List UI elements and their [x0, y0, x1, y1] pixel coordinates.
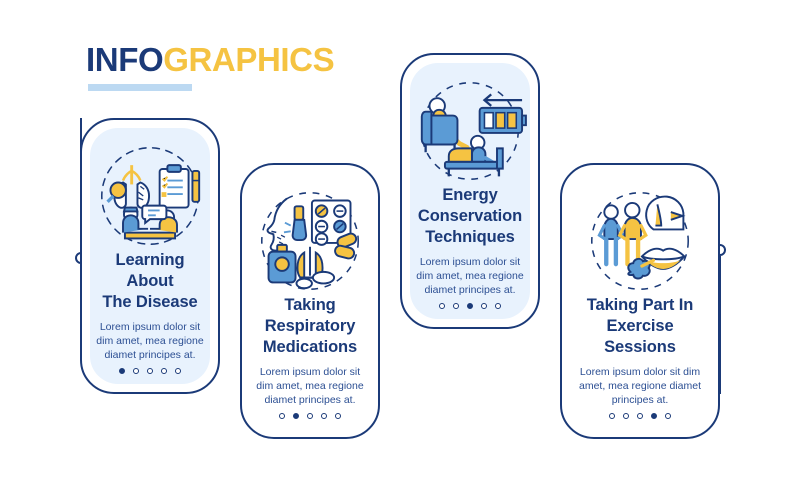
step-card-3-description: Lorem ipsum dolor sit dim amet, mea regi… — [416, 255, 524, 297]
step-card-1-description: Lorem ipsum dolor sit dim amet, mea regi… — [96, 320, 204, 362]
heading-line: Medications — [263, 337, 357, 358]
heading-line: Techniques — [418, 227, 522, 248]
lungs-magnifier-clipboard-consultation-icon — [86, 142, 214, 250]
heading-line: Learning — [102, 250, 197, 271]
step-card-2-dots[interactable] — [279, 413, 341, 419]
dot[interactable] — [467, 303, 473, 309]
dot[interactable] — [147, 368, 153, 374]
heading-line: About — [102, 271, 197, 292]
dot[interactable] — [119, 368, 125, 374]
dot[interactable] — [651, 413, 657, 419]
dot[interactable] — [293, 413, 299, 419]
dot[interactable] — [161, 368, 167, 374]
step-card-3-heading: Energy Conservation Techniques — [418, 185, 522, 248]
step-card-1-heading: Learning About The Disease — [102, 250, 197, 313]
step-card-4[interactable]: Taking Part In Exercise Sessions Lorem i… — [560, 163, 720, 439]
step-card-3-dots[interactable] — [439, 303, 501, 309]
dot[interactable] — [335, 413, 341, 419]
dot[interactable] — [665, 413, 671, 419]
dot[interactable] — [481, 303, 487, 309]
step-card-2-description: Lorem ipsum dolor sit dim amet, mea regi… — [256, 365, 364, 407]
dot[interactable] — [133, 368, 139, 374]
dot[interactable] — [453, 303, 459, 309]
dot[interactable] — [321, 413, 327, 419]
page-title: INFOGRAPHICS — [86, 40, 334, 80]
heading-line: Exercise — [587, 316, 693, 337]
dot[interactable] — [279, 413, 285, 419]
heading-line: Taking Part In — [587, 295, 693, 316]
step-card-4-description: Lorem ipsum dolor sit dim amet, mea regi… — [576, 365, 704, 407]
heading-line: Taking — [263, 295, 357, 316]
heading-line: Energy — [418, 185, 522, 206]
dot[interactable] — [609, 413, 615, 419]
title-part-info: INFO — [86, 41, 163, 78]
step-card-2-heading: Taking Respiratory Medications — [263, 295, 357, 358]
infographic-canvas: INFOGRAPHICS — [0, 0, 800, 500]
step-card-1-dots[interactable] — [119, 368, 181, 374]
step-card-4-dots[interactable] — [609, 413, 671, 419]
heading-line: The Disease — [102, 292, 197, 313]
dot[interactable] — [637, 413, 643, 419]
title-underline-rule — [88, 84, 192, 91]
heading-line: Conservation — [418, 206, 522, 227]
resting-armchair-battery-bed-icon — [406, 77, 534, 185]
inhaler-pills-syrup-lungs-icon — [246, 187, 374, 295]
dot[interactable] — [175, 368, 181, 374]
step-card-3[interactable]: Energy Conservation Techniques Lorem ips… — [400, 53, 540, 329]
heading-line: Respiratory — [263, 316, 357, 337]
step-card-1[interactable]: Learning About The Disease Lorem ipsum d… — [80, 118, 220, 394]
dot[interactable] — [439, 303, 445, 309]
dot[interactable] — [623, 413, 629, 419]
title-part-graphics: GRAPHICS — [163, 41, 334, 78]
exercise-people-breathing-lips-icon — [576, 187, 704, 295]
heading-line: Sessions — [587, 337, 693, 358]
dot[interactable] — [495, 303, 501, 309]
step-card-2[interactable]: Taking Respiratory Medications Lorem ips… — [240, 163, 380, 439]
dot[interactable] — [307, 413, 313, 419]
step-card-4-heading: Taking Part In Exercise Sessions — [587, 295, 693, 358]
